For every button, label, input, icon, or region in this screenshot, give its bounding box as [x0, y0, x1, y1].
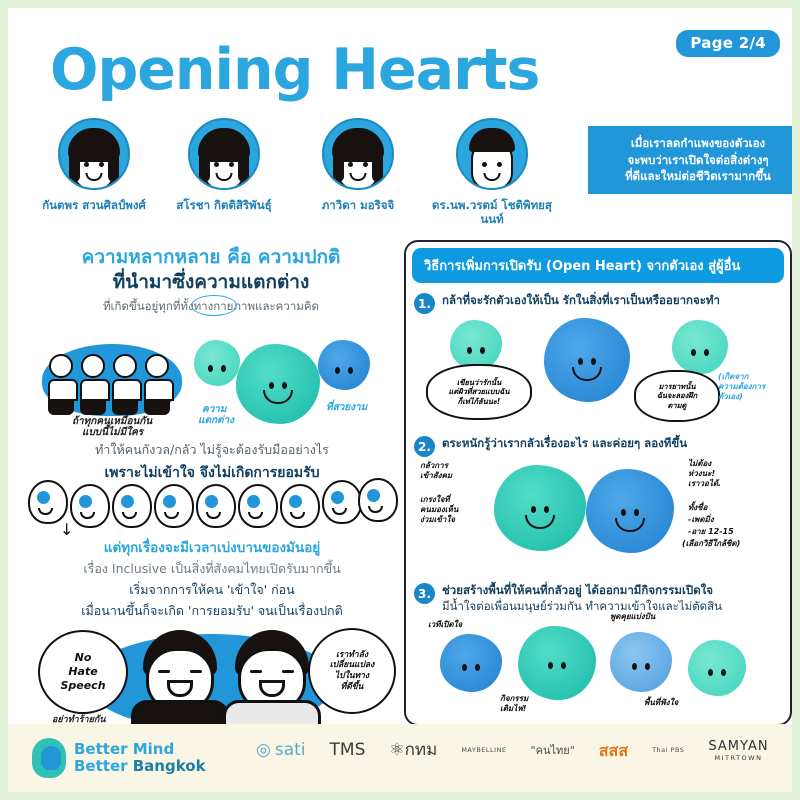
s2-note-right-1: ไม่ต้อง: [688, 459, 711, 469]
s2-note-left-1: กลัวการ: [420, 461, 448, 471]
s2-note-right-7: (เลือกวิธีใกล้ชิด): [682, 539, 740, 549]
s3-note-b1: กิจกรรม: [500, 694, 528, 704]
s1-side-note-2: ความต้องการ: [718, 382, 765, 392]
s1-bubble-l3: ก็เท่ไก้ลันนะ!: [458, 397, 501, 406]
step-number: 1.: [414, 293, 435, 314]
avatar: [456, 118, 528, 190]
heads-row-graphic: [28, 478, 396, 526]
s1-bubble-l1: เขียนว่ารักนั้น: [457, 378, 501, 387]
logo-tms: TMS: [330, 741, 366, 761]
low-line-2: เรื่อง Inclusive เป็นสิ่งที่สังคมไทยเปิด…: [26, 559, 398, 579]
speaker-card: กันตพร สวนศิลป์พงศ์: [30, 118, 158, 213]
blob-blue-large: [544, 318, 630, 402]
s2-note-left-2: เข้าสังคม: [420, 471, 452, 481]
s3-note-a: เวทีเปิดใจ: [428, 620, 462, 630]
bubble-r-line-4: ที่ดีขึ้น: [330, 682, 375, 693]
s2-note-right-4: ทั้งชื่อ: [688, 503, 707, 513]
difference-label-2: แตกต่าง: [198, 415, 234, 428]
s1-side-note-3: ตัวเอง): [718, 392, 743, 402]
blob-mint: [194, 340, 240, 386]
s2-note-left-4: คนมองเห็น: [420, 505, 458, 515]
step-number: 3.: [414, 583, 435, 604]
quote-line-1: เมื่อเราลดกำแพงของตัวเอง: [598, 135, 792, 152]
step-text: กล้าที่จะรักตัวเองให้เป็น รักในสิ่งที่เร…: [442, 293, 720, 309]
blob-lightblue: [610, 632, 672, 692]
step-text-secondary: มีน้ำใจต่อเพื่อนมนุษย์ร่วมกัน ทำความเข้า…: [442, 599, 722, 615]
bubble-line-1: No: [60, 651, 105, 665]
bubble-r-line-2: เปลี่ยนแปลง: [330, 660, 375, 671]
partner-logos: ◎sati TMS ⚛กทม MAYBELLINE "คนไทย" สสส Th…: [256, 740, 769, 762]
no-hate-speech-illustration: No Hate Speech อย่าทำร้ายกัน เราทำลัง เป…: [28, 616, 400, 734]
speaker-name: ภาวิดา มอริจจิ: [294, 199, 422, 213]
lead-line-3-wrap: ที่เกิดขึ้นอยู่ทุกที่ทั้งทางกายภาพและควา…: [103, 298, 319, 316]
panel-heading: วิธีการเพิ่มการเปิดรับ (Open Heart) จากต…: [412, 248, 784, 283]
infographic-page: Opening Hearts Page 2/4 กันตพร สวนศิลป์พ…: [8, 8, 792, 792]
lead-line-2: ที่นำมาซึ่งความแตกต่าง: [26, 270, 396, 295]
s1-bubble-r1: มารยาทนั้น: [658, 382, 695, 391]
step-2: 2. ตระหนักรู้ว่าเรากลัวเรื่องอะไร และค่อ…: [406, 432, 790, 579]
s1-bubble-r2: ฉันจะลองฝึก: [657, 391, 697, 400]
step-3: 3. ช่วยสร้างพื้นที่ให้คนที่กลัวอยู่ ได้อ…: [406, 579, 790, 726]
bubble-r-line-1: เราทำลัง: [330, 650, 375, 661]
speech-bubble-step1-left: เขียนว่ารักนั้น แต่ผิวที่สวยแบบฉัน ก็เท่…: [426, 364, 532, 420]
beautiful-label: ที่สวยงาม: [326, 402, 367, 415]
s2-note-right-5: -เพดมิ่ง: [688, 515, 714, 525]
logo-sati: ◎sati: [256, 741, 306, 761]
logo-thaipbs: Thai PBS: [652, 747, 684, 754]
footer: Better Mind Better Bangkok ◎sati TMS ⚛กท…: [8, 724, 792, 792]
step-text: ช่วยสร้างพื้นที่ให้คนที่กลัวอยู่ ได้ออกม…: [442, 583, 722, 599]
figure-person-left: [132, 630, 228, 734]
figure-person-right: [224, 630, 320, 734]
blob-blue: [440, 634, 502, 692]
speaker-portraits: กันตพร สวนศิลป์พงศ์ สโรชา กิตติสิริพันธุ…: [30, 118, 570, 223]
blob-blue-large: [586, 469, 674, 553]
s2-note-right-6: -อาย 12-15: [688, 527, 734, 537]
mid-line-1: ทำให้คนกังวล/กลัว ไม่รู้จะต้องรับมืออย่า…: [26, 440, 398, 460]
blob-blue: [318, 340, 370, 390]
blob-teal: [518, 626, 596, 700]
heart-leaf-icon: [32, 738, 66, 778]
speech-bubble-change: เราทำลัง เปลี่ยนแปลง ไปในทาง ที่ดีขึ้น: [308, 628, 396, 714]
step-text: ตระหนักรู้ว่าเรากลัวเรื่องอะไร และค่อยๆ …: [442, 436, 687, 452]
low-line-3: เริ่มจากการให้คน 'เข้าใจ' ก่อน: [26, 580, 398, 600]
low-line-1: แต่ทุกเรื่องจะมีเวลาเบ่งบานของมันอยู่: [26, 536, 398, 558]
bubble-r-line-3: ไปในทาง: [330, 671, 375, 682]
avatar: [188, 118, 260, 190]
page-title: Opening Hearts: [50, 42, 539, 99]
logo-maybelline: MAYBELLINE: [461, 747, 506, 754]
quote-line-2: จะพบว่าเราเปิดใจต่อสิ่งต่างๆ: [598, 152, 792, 169]
s1-bubble-r3: ตามดู: [668, 401, 687, 410]
s3-note-c: พูดคุยแบ่งปัน: [610, 612, 655, 622]
logo-konthai: "คนไทย": [531, 745, 575, 758]
left-lead: ความหลากหลาย คือ ความปกติ ที่นำมาซึ่งควา…: [26, 246, 396, 316]
better-mind-logo: Better Mind Better Bangkok: [32, 738, 206, 778]
open-heart-panel: วิธีการเพิ่มการเปิดรับ (Open Heart) จากต…: [404, 240, 792, 726]
crowd-sublabel: แบบนี้ไม่มีใคร: [82, 427, 143, 440]
speaker-name: ดร.นพ.วรตม์ โชติพิทยสุนนท์: [428, 199, 556, 227]
lead-line-1: ความหลากหลาย คือ ความปกติ: [26, 246, 396, 270]
step-2-scene: กลัวการ เข้าสังคม เกรงใจที่ คนมองเห็น ง่…: [414, 457, 782, 579]
step-1: 1. กล้าที่จะรักตัวเองให้เป็น รักในสิ่งที…: [406, 289, 790, 432]
bubble-line-3: Speech: [60, 679, 105, 693]
blob-mint: [688, 640, 746, 696]
s1-bubble-l2: แต่ผิวที่สวยแบบฉัน: [448, 387, 509, 396]
s3-note-b2: เติมไฟ!: [500, 704, 527, 714]
blob-teal-large: [236, 344, 320, 424]
speaker-card: ดร.นพ.วรตม์ โชติพิทยสุนนท์: [428, 118, 556, 227]
uniform-crowd-graphic: [42, 344, 182, 416]
speech-bubble-step1-right: มารยาทนั้น ฉันจะลองฝึก ตามดู: [634, 370, 720, 422]
logo-samyan: SAMYANMITRTOWN: [708, 740, 768, 762]
low-text-block: แต่ทุกเรื่องจะมีเวลาเบ่งบานของมันอยู่ เร…: [26, 536, 398, 621]
logo-thaihealth: สสส: [599, 742, 628, 760]
logo-bangkok: ⚛กทม: [389, 741, 437, 761]
s2-note-left-5: ง่วมเข้าใจ: [420, 515, 455, 525]
step-number: 2.: [414, 436, 435, 457]
step-1-scene: เขียนว่ารักนั้น แต่ผิวที่สวยแบบฉัน ก็เท่…: [414, 314, 782, 432]
page-number-badge: Page 2/4: [676, 30, 780, 57]
brand-line-2-bold: Bangkok: [133, 757, 206, 775]
speaker-card: ภาวิดา มอริจจิ: [294, 118, 422, 213]
avatar: [58, 118, 130, 190]
s2-note-left-3: เกรงใจที่: [420, 495, 450, 505]
step-3-scene: เวทีเปิดใจ กิจกรรม เติมไฟ! พูดคุยแบ่งปัน…: [414, 614, 782, 726]
quote-line-3: ที่ดีและใหม่ต่อชีวิตเรามากขึ้น: [598, 168, 792, 185]
speaker-name: กันตพร สวนศิลป์พงศ์: [30, 199, 158, 213]
avatar: [322, 118, 394, 190]
brand-line-2-plain: Better: [74, 757, 133, 775]
s2-note-right-2: ห่วงนะ!: [688, 469, 715, 479]
speaker-card: สโรชา กิตติสิริพันธุ์: [160, 118, 288, 213]
speech-bubble-no-hate: No Hate Speech: [38, 630, 128, 714]
quote-box: เมื่อเราลดกำแพงของตัวเอง จะพบว่าเราเปิดใ…: [588, 126, 792, 194]
s2-note-right-3: เราวอได้.: [688, 479, 721, 489]
blob-mint-right: [672, 320, 728, 374]
speaker-name: สโรชา กิตติสิริพันธุ์: [160, 199, 288, 213]
s3-note-d: พื้นที่ฟังใจ: [644, 698, 678, 708]
s1-side-note-1: (เกิดจาก: [718, 372, 748, 382]
blob-mint: [450, 320, 502, 370]
bubble-line-2: Hate: [60, 665, 105, 679]
brand-line-1: Better Mind: [74, 741, 206, 758]
blob-teal-large: [494, 465, 586, 551]
diversity-illustration: ถ้าทุกคนเหมือนกัน แบบนี้ไม่มีใคร ความ แต…: [26, 326, 398, 441]
